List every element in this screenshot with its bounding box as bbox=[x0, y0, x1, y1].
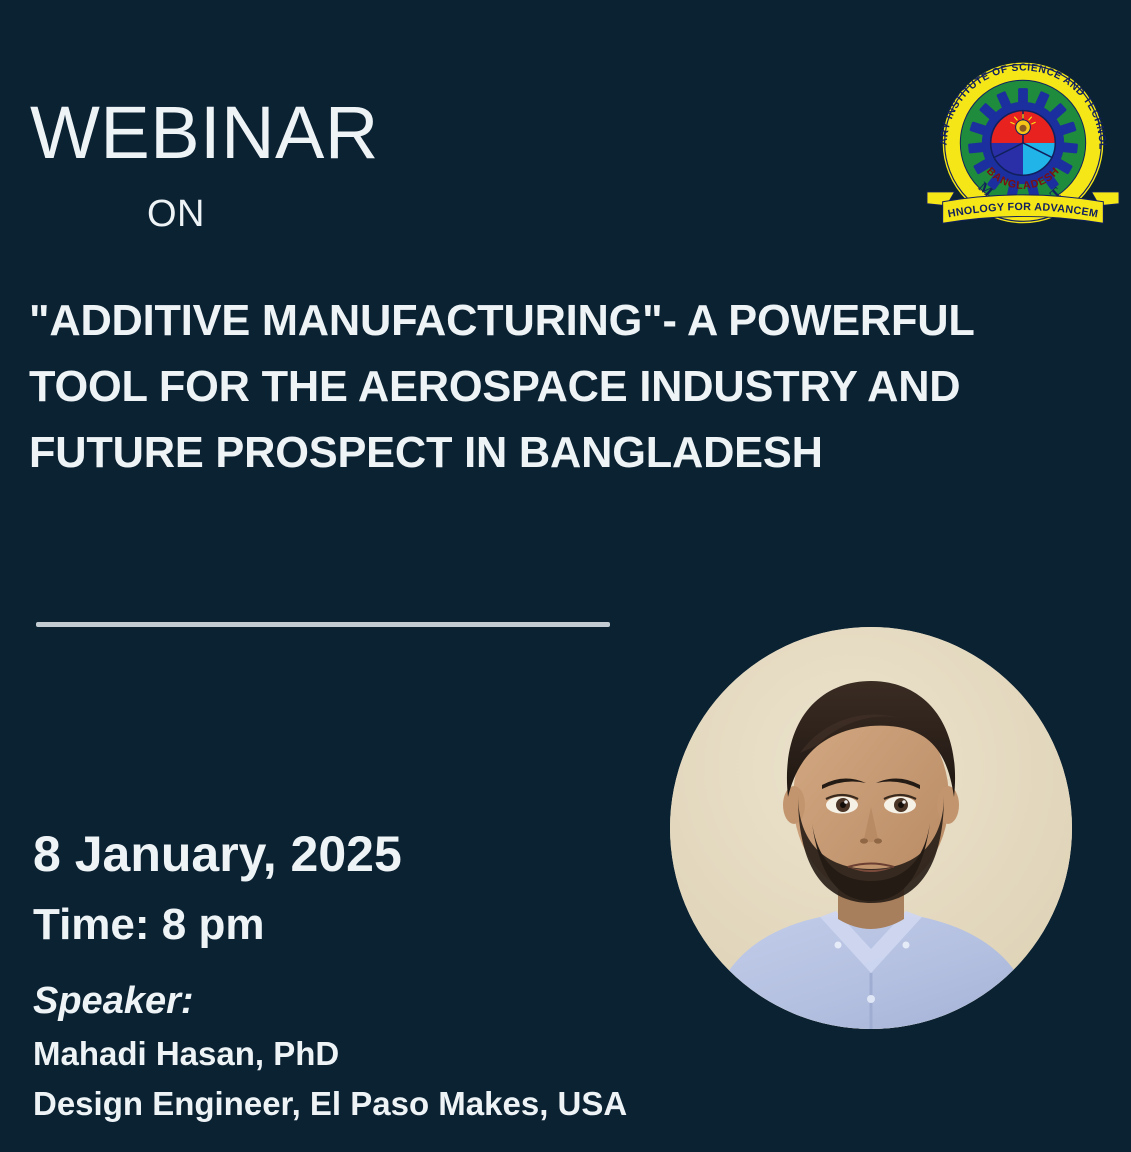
title-line-2: TOOL FOR THE AEROSPACE INDUSTRY AND bbox=[29, 354, 1078, 420]
page-title: WEBINAR bbox=[30, 96, 379, 170]
webinar-poster: WEBINAR ON MILITARY INSTITUTE OF SCIENCE… bbox=[0, 0, 1131, 1152]
speaker-portrait bbox=[670, 627, 1072, 1029]
speaker-role: Design Engineer, El Paso Makes, USA bbox=[33, 1087, 627, 1120]
event-date: 8 January, 2025 bbox=[33, 829, 402, 879]
speaker-name: Mahadi Hasan, PhD bbox=[33, 1037, 339, 1070]
title-line-3: FUTURE PROSPECT IN BANGLADESH bbox=[29, 420, 1078, 486]
section-divider bbox=[36, 622, 610, 627]
title-line-1: "ADDITIVE MANUFACTURING"- A POWERFUL bbox=[29, 288, 1078, 354]
event-time: Time: 8 pm bbox=[33, 903, 264, 947]
page-subtitle-on: ON bbox=[147, 195, 205, 233]
mist-logo: MILITARY INSTITUTE OF SCIENCE AND TECHNO… bbox=[925, 45, 1121, 237]
speaker-label: Speaker: bbox=[33, 982, 194, 1020]
webinar-title: "ADDITIVE MANUFACTURING"- A POWERFUL TOO… bbox=[29, 288, 1094, 486]
